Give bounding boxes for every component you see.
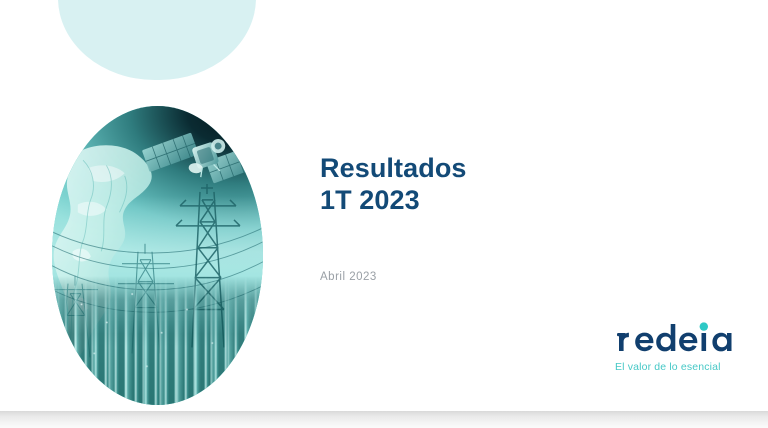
cover-photo-oval — [52, 106, 263, 405]
brand-tagline: El valor de lo esencial — [615, 361, 743, 374]
redeia-dot — [700, 322, 708, 330]
page-title: Resultados 1T 2023 — [320, 152, 467, 216]
slide-canvas: Resultados 1T 2023 Abril 2023 — [0, 0, 768, 411]
redeia-wordmark-icon — [615, 322, 743, 356]
title-line-1: Resultados — [320, 152, 467, 184]
slide-root: Resultados 1T 2023 Abril 2023 — [0, 0, 768, 428]
cover-photo-artwork — [52, 106, 263, 405]
brand-logo: El valor de lo esencial — [615, 322, 743, 374]
slide-date: Abril 2023 — [320, 269, 377, 285]
fiber-strand-tips — [52, 276, 263, 405]
fiber-optic-strands-icon — [52, 276, 263, 405]
title-line-2: 1T 2023 — [320, 184, 467, 216]
pale-cyan-blob-icon — [58, 0, 256, 80]
slide-drop-shadow — [0, 411, 768, 428]
